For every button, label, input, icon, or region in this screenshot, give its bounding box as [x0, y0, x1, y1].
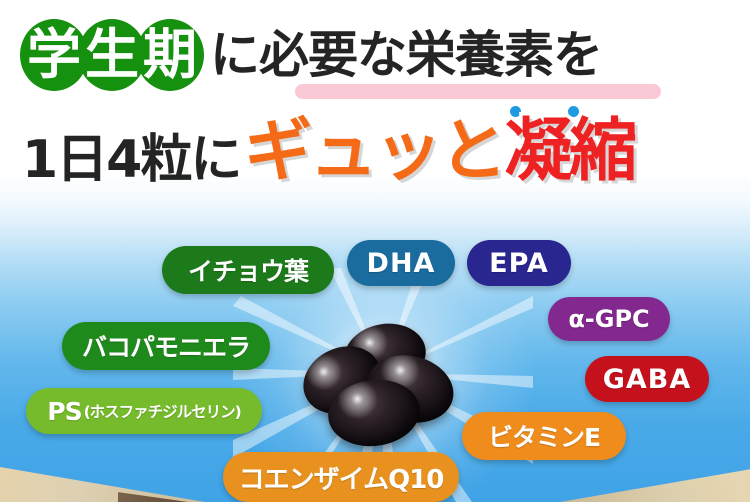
ingredient-label: GABA: [603, 364, 692, 395]
circle-char-3: 期: [143, 28, 197, 82]
green-circle-word: 学 生 期: [20, 16, 194, 94]
headline-line-1: 学 生 期 に必要な栄養素を: [20, 16, 602, 94]
ingredient-badge-ginkgo[interactable]: イチョウ葉: [162, 246, 334, 294]
green-circle-char: 学: [20, 16, 88, 94]
circle-char-1: 学: [27, 28, 81, 82]
wood-surface-left: [0, 456, 205, 502]
ingredient-badge-epa[interactable]: EPA: [467, 240, 571, 286]
ingredient-sublabel: (ホスファチジルセリン): [84, 400, 241, 422]
headline-line1-text: に必要な栄養素を: [210, 30, 602, 80]
ingredient-label: PS: [47, 397, 81, 426]
ingredient-label: ビタミンE: [488, 418, 600, 454]
emphasis-wrap: ギュッと凝縮: [244, 118, 634, 186]
dosage-text: 1日4粒に: [22, 134, 240, 186]
green-circle-char: 生: [78, 16, 146, 94]
ingredient-badge-alpha-gpc[interactable]: α-GPC: [548, 297, 670, 341]
ingredient-badge-ps[interactable]: PS(ホスファチジルセリン): [26, 388, 262, 434]
ingredient-label: イチョウ葉: [188, 252, 308, 288]
ingredient-label: バコパモニエラ: [82, 328, 250, 364]
ingredient-badge-dha[interactable]: DHA: [347, 240, 455, 286]
ingredient-label: α-GPC: [568, 305, 649, 333]
capsule-cluster: [300, 322, 460, 450]
ingredient-label: EPA: [489, 248, 549, 279]
ingredient-badge-coq10[interactable]: コエンザイムQ10: [223, 452, 459, 502]
emphasis-kana: ギュッと: [244, 112, 504, 191]
advertisement-banner: 学 生 期 に必要な栄養素を 1日4粒に ギュッと凝縮 イチョウ葉: [0, 0, 750, 502]
headline-block: 学 生 期 に必要な栄養素を 1日4粒に ギュッと凝縮: [0, 0, 750, 215]
ingredient-badge-bacopa[interactable]: バコパモニエラ: [62, 322, 270, 370]
green-circle-char: 期: [136, 16, 204, 94]
ingredient-badge-gaba[interactable]: GABA: [585, 356, 709, 402]
ingredient-label: コエンザイムQ10: [239, 459, 444, 496]
headline-line-2: 1日4粒に ギュッと凝縮: [22, 118, 634, 186]
ingredient-badge-vitamin-e[interactable]: ビタミンE: [462, 412, 626, 460]
emphasis-kanji: 凝縮: [504, 112, 634, 191]
emphasis-text: ギュッと凝縮: [244, 118, 634, 186]
pink-highlight-bar: [295, 84, 661, 99]
ingredient-label: DHA: [367, 248, 436, 279]
circle-char-2: 生: [85, 28, 139, 82]
wood-surface-right: [560, 460, 750, 502]
